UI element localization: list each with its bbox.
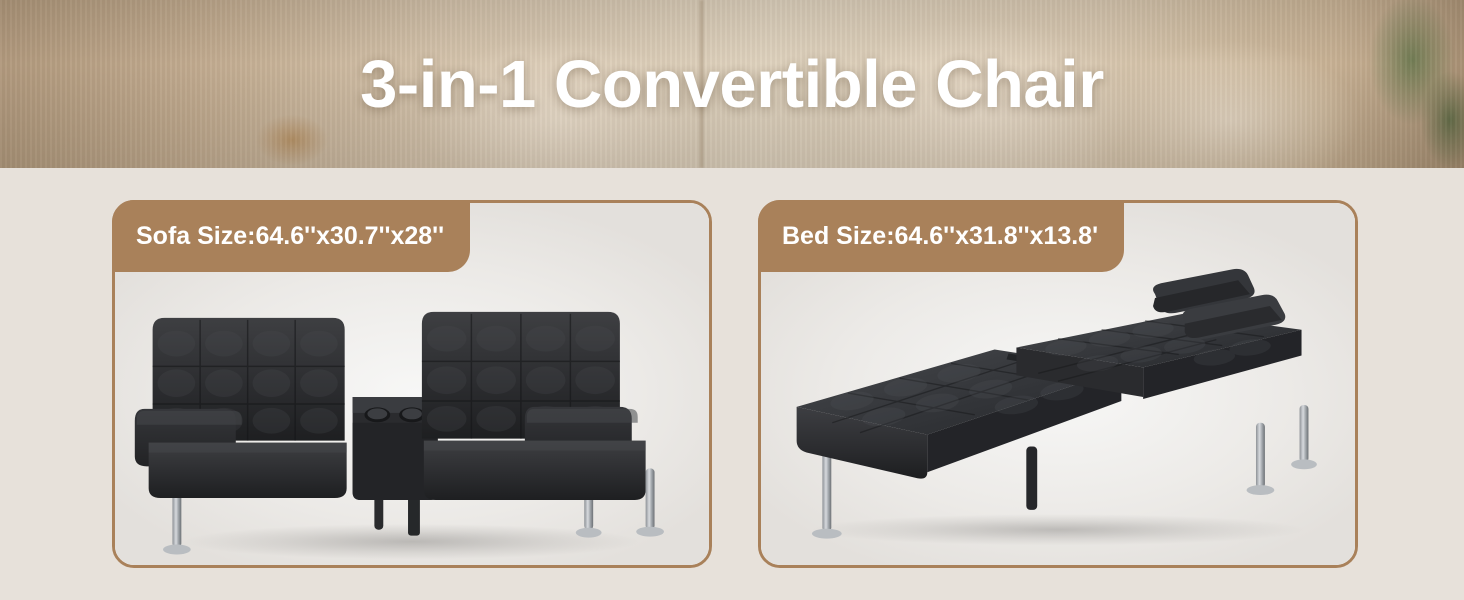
card-bed: Bed Size:64.6''x31.8''x13.8' [758,200,1358,568]
product-feature-banner: 3-in-1 Convertible Chair [0,0,1464,600]
hero-section: 3-in-1 Convertible Chair [0,0,1464,168]
page-title: 3-in-1 Convertible Chair [0,0,1464,168]
card-sofa: Sofa Size:64.6''x30.7''x28'' [112,200,712,568]
cards-area: Sofa Size:64.6''x30.7''x28'' [0,168,1464,600]
sofa-size-label: Sofa Size:64.6''x30.7''x28'' [112,200,470,272]
bed-size-label: Bed Size:64.6''x31.8''x13.8' [758,200,1124,272]
